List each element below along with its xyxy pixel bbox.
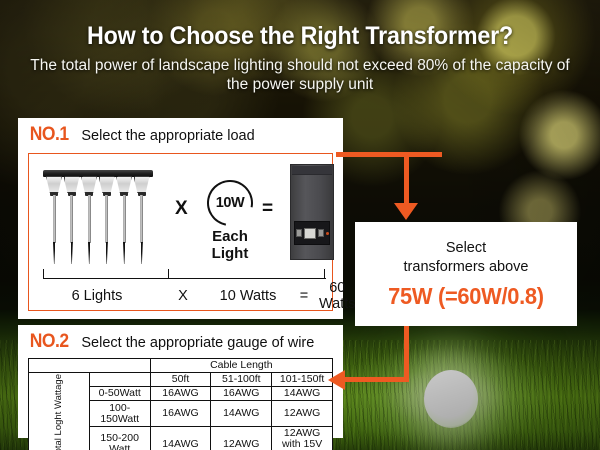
- table-column-header: 50ft: [150, 373, 211, 387]
- table-row: Total Loght Wattage50ft51-100ft101-150ft: [29, 373, 333, 387]
- table-cell: 16AWG: [150, 401, 211, 426]
- step-1-card: NO.1 Select the appropriate load X 10W E…: [18, 118, 343, 319]
- table-row-header: 100-150Watt: [89, 401, 150, 426]
- path-lights-group: [43, 170, 161, 264]
- table-column-header: 51-100ft: [211, 373, 272, 387]
- wire-gauge-table: Cable LengthTotal Loght Wattage50ft51-10…: [28, 358, 333, 450]
- infographic-canvas: How to Choose the Right Transformer? The…: [0, 0, 600, 450]
- load-calculation-diagram: X 10W Each Light =: [29, 154, 332, 310]
- step-1-header: NO.1 Select the appropriate load: [18, 118, 343, 150]
- transformer-indicator-dot: [326, 232, 329, 235]
- per-light-wattage-badge: 10W Each Light: [193, 180, 267, 262]
- callout-line-2: transformers above: [404, 258, 529, 277]
- table-row-header: 150-200 Watt: [89, 426, 150, 450]
- table-column-header: 101-150ft: [272, 373, 333, 387]
- equals-operator: =: [262, 198, 273, 220]
- equation-bracket: [43, 269, 326, 279]
- load-equation-row: 6 Lights X 10 Watts = 60 Watts: [35, 280, 326, 312]
- arrow-step1-to-callout-vertical: [404, 152, 409, 208]
- table-cell: 12AWG: [211, 426, 272, 450]
- step-2-header: NO.2 Select the appropriate gauge of wir…: [18, 325, 343, 357]
- equation-equals: =: [289, 288, 319, 304]
- table-cell: 16AWG: [211, 387, 272, 401]
- table-cell: 12AWG: [272, 401, 333, 426]
- step-2-card: NO.2 Select the appropriate gauge of wir…: [18, 325, 343, 438]
- bracket-tick-start: [43, 269, 44, 279]
- arrow-left-head-icon: [328, 370, 345, 390]
- step-1-heading: Select the appropriate load: [81, 128, 254, 144]
- transformer-dial-left: [296, 229, 302, 237]
- step-1-illustration-box: X 10W Each Light =: [28, 153, 333, 311]
- per-light-caption: Each Light: [193, 228, 267, 262]
- arrow-callout-to-step2-horizontal: [345, 377, 409, 382]
- table-cell: 12AWG with 15V Tap: [272, 426, 333, 450]
- table-cell: 14AWG: [211, 401, 272, 426]
- table-row: Cable Length: [29, 359, 333, 373]
- step-2-number: NO.2: [30, 331, 69, 353]
- table-row-group-header: Total Loght Wattage: [29, 373, 90, 450]
- callout-recommended-wattage: 75W (=60W/0.8): [388, 283, 544, 310]
- table-cell: 14AWG: [150, 426, 211, 450]
- arrow-down-head-icon: [394, 203, 418, 220]
- equation-total: 60 Watts: [319, 280, 356, 312]
- transformer-unit-icon: [290, 164, 334, 260]
- table-row-group-label: Total Loght Wattage: [54, 374, 64, 450]
- transformer-display: [304, 228, 316, 239]
- bracket-tick-end: [324, 269, 325, 279]
- bracket-tick-mid: [168, 269, 169, 279]
- result-callout-box: Select transformers above 75W (=60W/0.8): [355, 222, 577, 326]
- transformer-dial-right: [318, 229, 324, 237]
- table-col-group-header: Cable Length: [150, 359, 332, 373]
- multiply-operator: X: [175, 198, 188, 220]
- transformer-body: [290, 164, 334, 260]
- table-row-header: 0-50Watt: [89, 387, 150, 401]
- per-light-wattage-value: 10W: [209, 182, 251, 224]
- header: How to Choose the Right Transformer? The…: [0, 22, 600, 94]
- equation-watts-each: 10 Watts: [207, 288, 289, 304]
- wattage-ring-icon: 10W: [198, 171, 262, 235]
- table-cell: 14AWG: [272, 387, 333, 401]
- page-title: How to Choose the Right Transformer?: [21, 22, 579, 51]
- table-corner-blank: [29, 359, 151, 373]
- page-subtitle: The total power of landscape lighting sh…: [0, 56, 600, 94]
- arrow-step1-to-callout-horizontal: [336, 152, 442, 157]
- transformer-lid: [292, 166, 332, 175]
- step-1-number: NO.1: [30, 124, 69, 146]
- table-header-blank: [89, 373, 150, 387]
- arrow-callout-to-step2-vertical: [404, 326, 409, 382]
- path-light-icon: [43, 170, 65, 264]
- step-2-heading: Select the appropriate gauge of wire: [81, 335, 314, 351]
- equation-times: X: [159, 288, 207, 304]
- transformer-control-panel: [294, 221, 330, 245]
- wire-gauge-table-wrapper: Cable LengthTotal Loght Wattage50ft51-10…: [28, 358, 333, 432]
- equation-lights: 6 Lights: [35, 288, 159, 304]
- table-cell: 16AWG: [150, 387, 211, 401]
- callout-line-1: Select: [446, 239, 486, 258]
